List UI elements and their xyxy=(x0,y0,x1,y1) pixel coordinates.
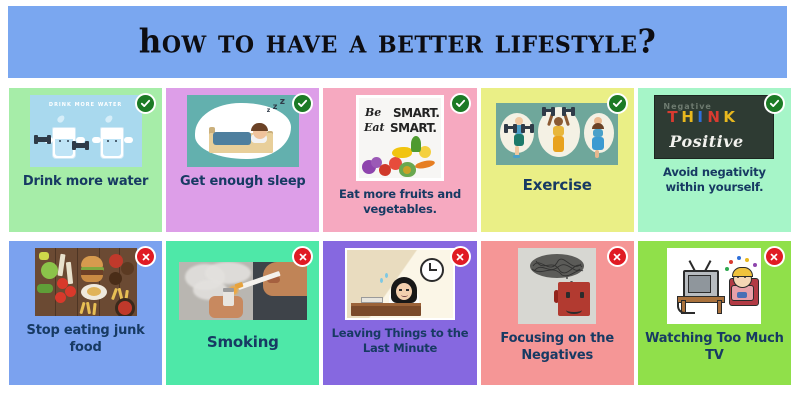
thumbnail-text-smart-1: SMART. xyxy=(393,106,440,120)
cross-icon xyxy=(764,246,785,267)
card-label: Get enough sleep xyxy=(172,173,313,190)
thumbnail-text-eat: Eat xyxy=(364,121,385,134)
card-label: Stop eating junk food xyxy=(15,322,156,356)
check-icon xyxy=(764,93,785,114)
card-drink-more-water[interactable]: DRINK MORE WATER xyxy=(9,88,162,232)
thumbnail-last-minute xyxy=(345,248,455,320)
card-label: Watching Too Much TV xyxy=(644,330,785,364)
thumbnail-watching-tv xyxy=(667,248,761,324)
thumbnail-negative-thoughts xyxy=(518,248,596,324)
cross-icon xyxy=(450,246,471,267)
cross-icon xyxy=(135,246,156,267)
infographic-page: How to have a better lifestyle? DRINK MO… xyxy=(0,0,800,400)
thumbnail-water: DRINK MORE WATER xyxy=(30,95,142,167)
thumbnail-be-smart-eat-smart: Be SMART. Eat SMART. xyxy=(356,95,444,181)
check-icon xyxy=(607,93,628,114)
card-label: Smoking xyxy=(172,334,313,351)
card-last-minute[interactable]: Leaving Things to the Last Minute xyxy=(323,241,476,385)
card-watching-tv[interactable]: Watching Too Much TV xyxy=(638,241,791,385)
card-get-enough-sleep[interactable]: z z z Get enough sleep xyxy=(166,88,319,232)
page-title: How to have a better lifestyle? xyxy=(139,23,656,61)
thumbnail-smoking xyxy=(179,262,307,320)
cross-icon xyxy=(292,246,313,267)
thumbnail-text-smart-2: SMART. xyxy=(390,121,437,135)
check-icon xyxy=(450,93,471,114)
clock-icon xyxy=(420,258,444,282)
card-avoid-negativity[interactable]: Negative T H I N K Positive Avoid negati… xyxy=(638,88,791,232)
card-exercise[interactable]: Exercise xyxy=(481,88,634,232)
thumbnail-junk-food xyxy=(35,248,137,316)
tangled-thought-icon xyxy=(528,253,586,279)
check-icon xyxy=(292,93,313,114)
card-eat-fruits-vegetables[interactable]: Be SMART. Eat SMART. Eat more fruits and… xyxy=(323,88,476,232)
lifestyle-card-grid: DRINK MORE WATER xyxy=(9,88,791,388)
card-label: Drink more water xyxy=(15,173,156,190)
thumbnail-sleep: z z z xyxy=(187,95,299,167)
card-smoking[interactable]: Smoking xyxy=(166,241,319,385)
check-icon xyxy=(135,93,156,114)
title-banner: How to have a better lifestyle? xyxy=(8,6,787,78)
cross-icon xyxy=(607,246,628,267)
thumbnail-script-word: Positive xyxy=(669,132,743,151)
card-label: Exercise xyxy=(487,177,628,194)
card-stop-junk-food[interactable]: Stop eating junk food xyxy=(9,241,162,385)
thumbnail-text-be: Be xyxy=(365,106,381,119)
thumbnail-water-caption: DRINK MORE WATER xyxy=(30,102,142,108)
card-label: Focusing on the Negatives xyxy=(487,330,628,364)
card-label: Leaving Things to the Last Minute xyxy=(329,326,470,356)
thumbnail-exercise xyxy=(496,103,618,165)
card-label: Eat more fruits and vegetables. xyxy=(329,187,470,217)
card-label: Avoid negativity within yourself. xyxy=(644,165,785,195)
card-focusing-negatives[interactable]: Focusing on the Negatives xyxy=(481,241,634,385)
thumbnail-think-positive: Negative T H I N K Positive xyxy=(654,95,774,159)
